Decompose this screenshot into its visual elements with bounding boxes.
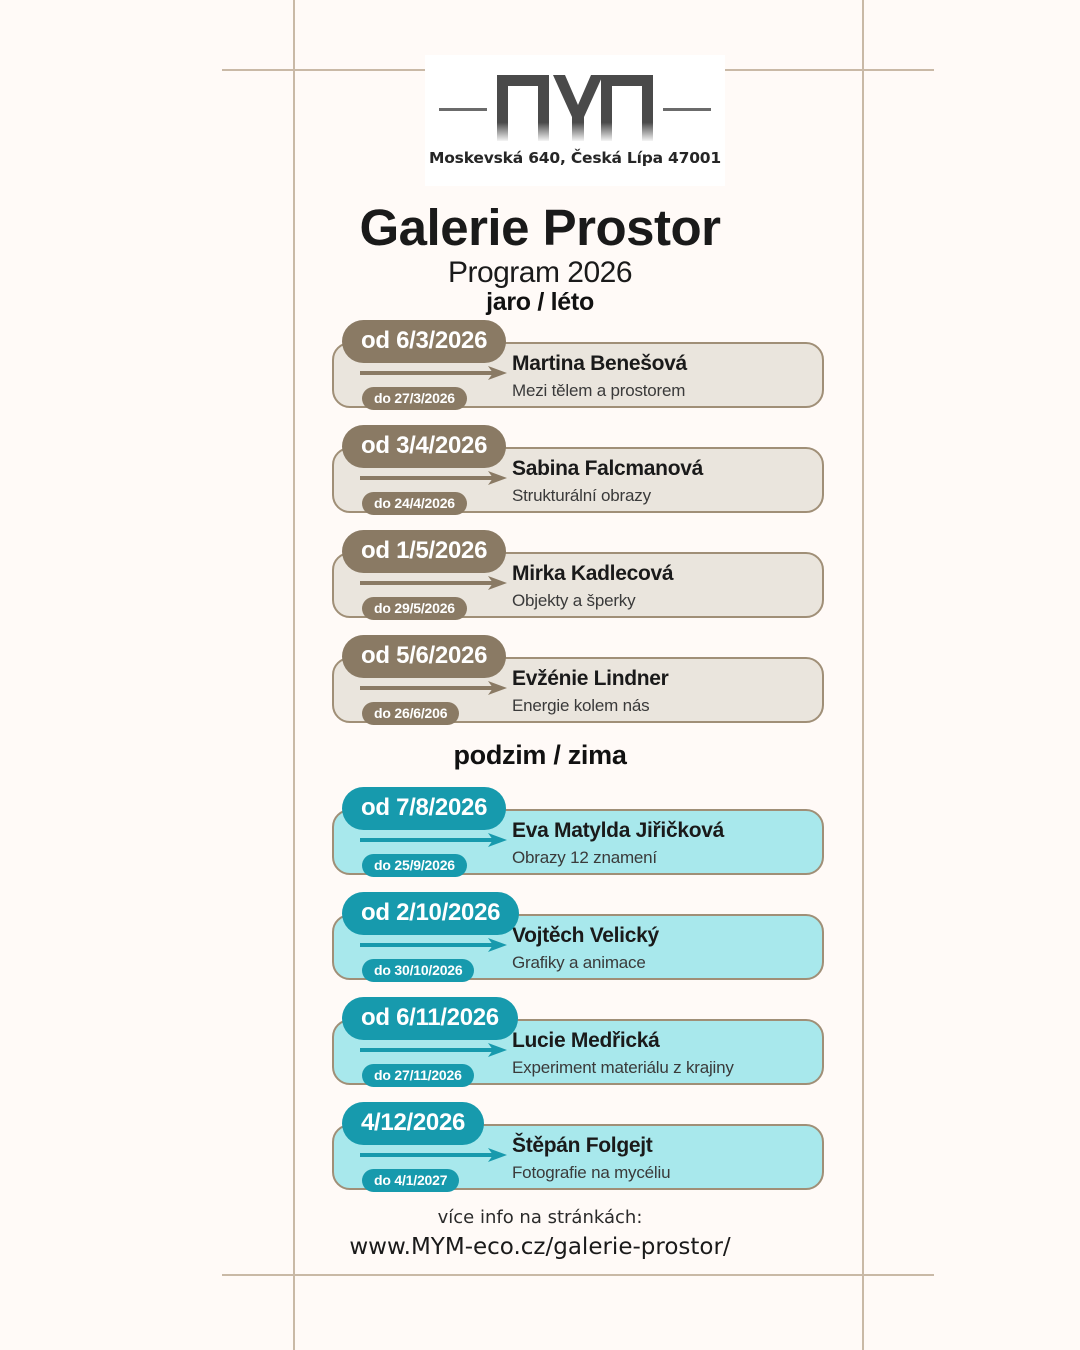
event-start-date-pill: 4/12/2026	[342, 1102, 484, 1145]
event-work-title: Mezi tělem a prostorem	[512, 381, 810, 401]
event-artist-name: Štěpán Folgejt	[512, 1134, 810, 1158]
event-card[interactable]: 4/12/2026do 4/1/2027Štěpán FolgejtFotogr…	[332, 1102, 824, 1190]
event-work-title: Strukturální obrazy	[512, 486, 810, 506]
event-artist-name: Mirka Kadlecová	[512, 562, 810, 586]
event-card[interactable]: od 5/6/2026do 26/6/206Evžénie LindnerEne…	[332, 635, 824, 723]
event-start-date-pill: od 1/5/2026	[342, 530, 506, 573]
event-artist-name: Vojtěch Velický	[512, 924, 810, 948]
date-range-arrow-icon	[360, 833, 508, 847]
event-artist-name: Martina Benešová	[512, 352, 810, 376]
event-card[interactable]: od 1/5/2026do 29/5/2026Mirka KadlecováOb…	[332, 530, 824, 618]
date-range-arrow-icon	[360, 471, 508, 485]
event-start-date-pill: od 5/6/2026	[342, 635, 506, 678]
event-list: od 6/3/2026do 27/3/2026Martina BenešováM…	[0, 0, 1080, 1350]
event-artist-name: Lucie Medřická	[512, 1029, 810, 1053]
event-text-block: Sabina FalcmanováStrukturální obrazy	[512, 457, 810, 506]
event-end-date-pill: do 27/3/2026	[362, 387, 467, 410]
event-start-date-pill: od 3/4/2026	[342, 425, 506, 468]
date-range-arrow-icon	[360, 576, 508, 590]
event-end-date-pill: do 24/4/2026	[362, 492, 467, 515]
event-end-date-pill: do 25/9/2026	[362, 854, 467, 877]
date-range-arrow-icon	[360, 366, 508, 380]
event-work-title: Objekty a šperky	[512, 591, 810, 611]
event-end-date-pill: do 29/5/2026	[362, 597, 467, 620]
event-text-block: Lucie MedřickáExperiment materiálu z kra…	[512, 1029, 810, 1078]
event-work-title: Energie kolem nás	[512, 696, 810, 716]
date-range-arrow-icon	[360, 1148, 508, 1162]
event-work-title: Experiment materiálu z krajiny	[512, 1058, 810, 1078]
event-text-block: Vojtěch VelickýGrafiky a animace	[512, 924, 810, 973]
event-text-block: Evžénie LindnerEnergie kolem nás	[512, 667, 810, 716]
footer-website-url[interactable]: www.MYM-eco.cz/galerie-prostor/	[0, 1234, 1080, 1260]
event-work-title: Obrazy 12 znamení	[512, 848, 810, 868]
event-card[interactable]: od 6/3/2026do 27/3/2026Martina BenešováM…	[332, 320, 824, 408]
footer-more-info-label: více info na stránkách:	[0, 1207, 1080, 1228]
event-end-date-pill: do 26/6/206	[362, 702, 459, 725]
event-start-date-pill: od 6/3/2026	[342, 320, 506, 363]
event-end-date-pill: do 30/10/2026	[362, 959, 474, 982]
event-text-block: Mirka KadlecováObjekty a šperky	[512, 562, 810, 611]
event-text-block: Štěpán FolgejtFotografie na mycéliu	[512, 1134, 810, 1183]
event-card[interactable]: od 2/10/2026do 30/10/2026Vojtěch Velický…	[332, 892, 824, 980]
date-range-arrow-icon	[360, 681, 508, 695]
event-text-block: Martina BenešováMezi tělem a prostorem	[512, 352, 810, 401]
event-artist-name: Evžénie Lindner	[512, 667, 810, 691]
event-text-block: Eva Matylda JiřičkováObrazy 12 znamení	[512, 819, 810, 868]
event-start-date-pill: od 2/10/2026	[342, 892, 519, 935]
event-start-date-pill: od 6/11/2026	[342, 997, 518, 1040]
event-end-date-pill: do 27/11/2026	[362, 1064, 474, 1087]
event-artist-name: Sabina Falcmanová	[512, 457, 810, 481]
date-range-arrow-icon	[360, 938, 508, 952]
event-card[interactable]: od 6/11/2026do 27/11/2026Lucie MedřickáE…	[332, 997, 824, 1085]
event-artist-name: Eva Matylda Jiřičková	[512, 819, 810, 843]
event-work-title: Fotografie na mycéliu	[512, 1163, 810, 1183]
event-start-date-pill: od 7/8/2026	[342, 787, 506, 830]
event-end-date-pill: do 4/1/2027	[362, 1169, 459, 1192]
event-card[interactable]: od 7/8/2026do 25/9/2026Eva Matylda Jiřič…	[332, 787, 824, 875]
event-card[interactable]: od 3/4/2026do 24/4/2026Sabina Falcmanová…	[332, 425, 824, 513]
event-work-title: Grafiky a animace	[512, 953, 810, 973]
date-range-arrow-icon	[360, 1043, 508, 1057]
